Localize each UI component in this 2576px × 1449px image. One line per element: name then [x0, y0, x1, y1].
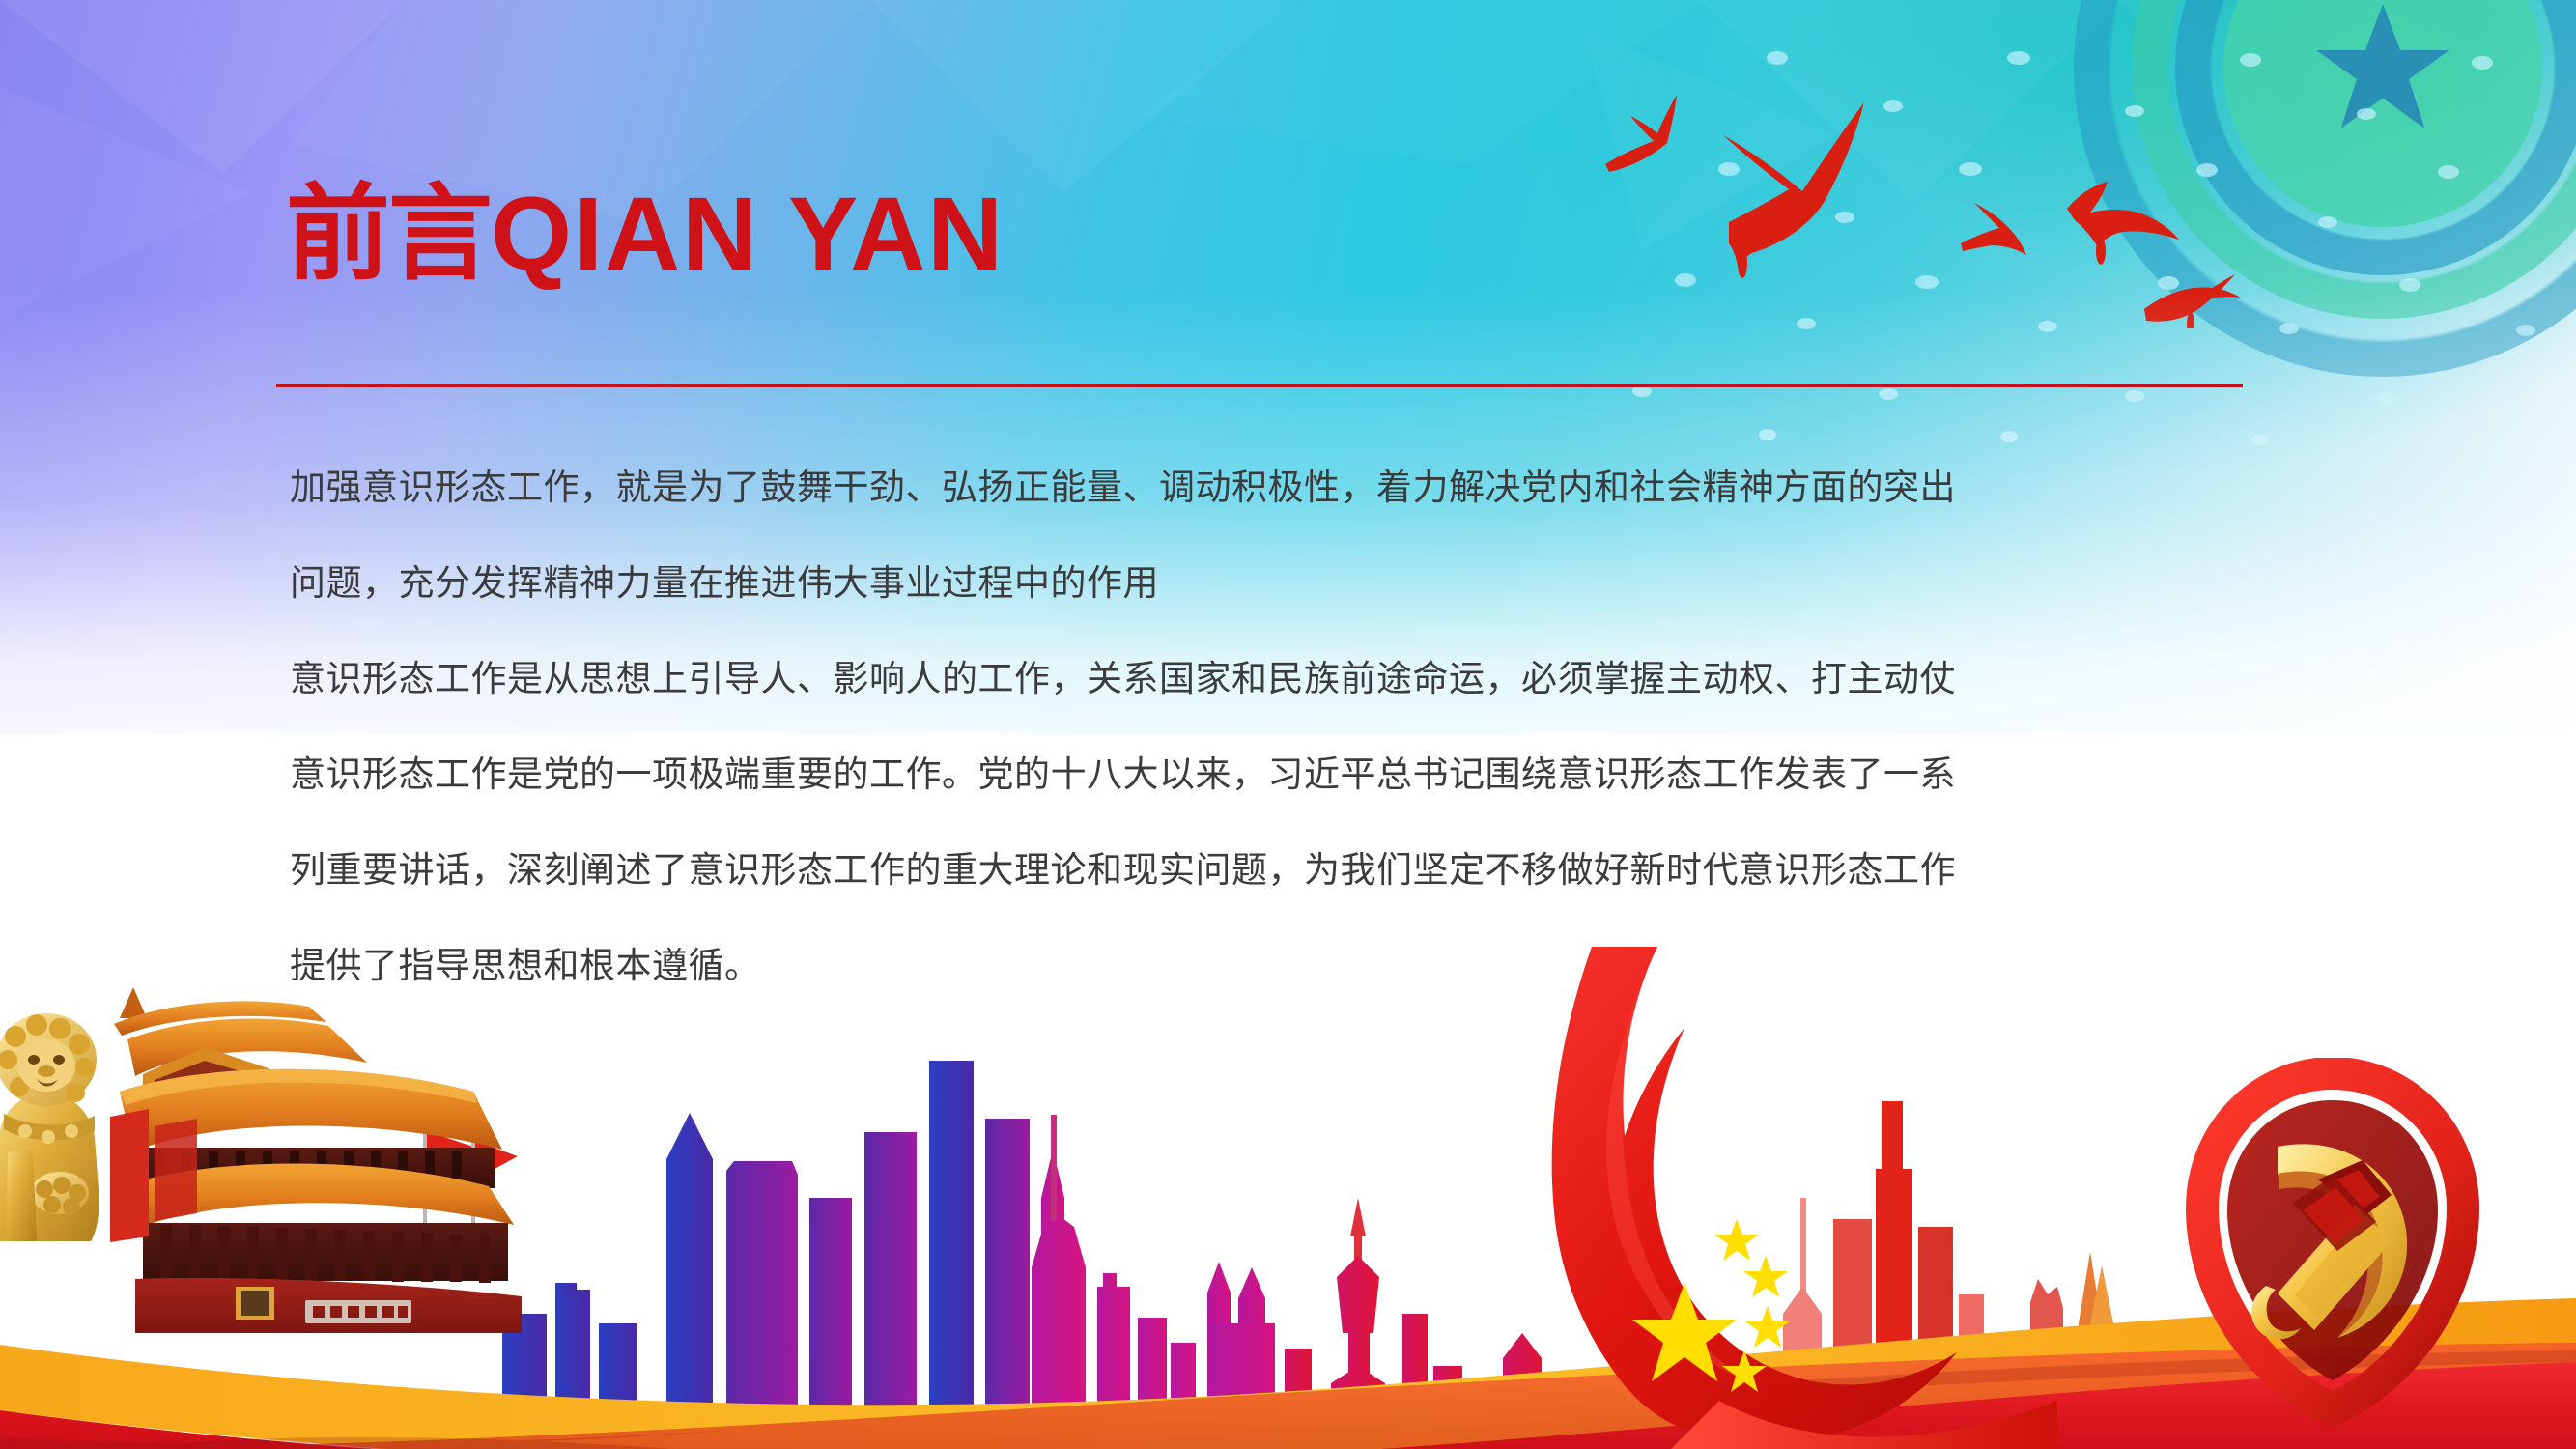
china-national-flag: [1478, 947, 2077, 1449]
page-title-pinyin: QIAN YAN: [491, 175, 1005, 292]
body-line-5: 列重要讲话，深刻阐述了意识形态工作的重大理论和现实问题，为我们坚定不移做好新时代…: [290, 822, 2308, 918]
flying-doves: [1545, 19, 2511, 328]
page-title-chinese: 前言: [286, 174, 491, 295]
body-line-1: 加强意识形态工作，就是为了鼓舞干劲、弘扬正能量、调动积极性，着力解决党内和社会精…: [290, 440, 2308, 535]
title-divider: [276, 384, 2243, 387]
body-line-4: 意识形态工作是党的一项极端重要的工作。党的十八大以来，习近平总书记围绕意识形态工…: [290, 726, 2308, 822]
skyline-left-buildings: [502, 1061, 1086, 1449]
slide-canvas: 前言QIAN YAN 加强意识形态工作，就是为了鼓舞干劲、弘扬正能量、调动积极性…: [0, 0, 2576, 1449]
body-line-3: 意识形态工作是从思想上引导人、影响人的工作，关系国家和民族前途命运，必须掌握主动…: [290, 631, 2308, 726]
golden-lion-statue: [0, 952, 212, 1241]
cpc-hammer-sickle-emblem: [2173, 1058, 2492, 1425]
body-line-2: 问题，充分发挥精神力量在推进伟大事业过程中的作用: [290, 535, 2308, 631]
bottom-artwork: [0, 908, 2576, 1449]
page-title: 前言QIAN YAN: [286, 179, 1005, 290]
